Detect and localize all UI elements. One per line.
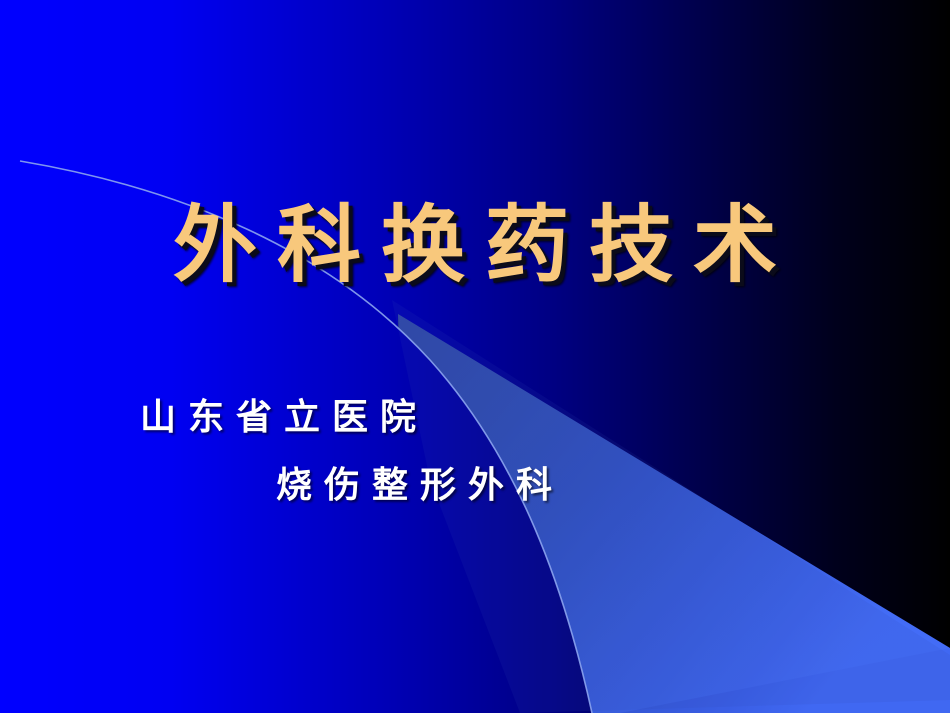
page-title: 外科换药技术 — [153, 200, 797, 291]
subtitle-line-organization: 山东省立医院 — [140, 388, 428, 440]
subtitle-line-department: 烧伤整形外科 — [276, 456, 564, 508]
title-slide: 外科换药技术 山东省立医院 烧伤整形外科 — [0, 0, 950, 713]
title-block: 外科换药技术 — [0, 200, 950, 291]
slide-text-layer: 外科换药技术 山东省立医院 烧伤整形外科 — [0, 0, 950, 713]
